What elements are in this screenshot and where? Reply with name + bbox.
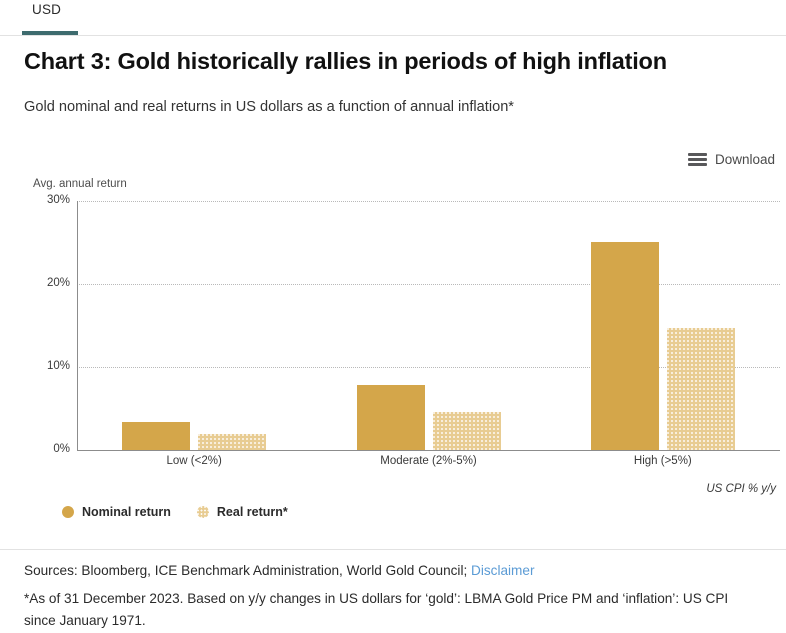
bar-nominal[interactable] — [122, 422, 190, 450]
y-axis-tick: 20% — [10, 277, 70, 289]
x-axis-line — [77, 450, 780, 451]
legend-item[interactable]: Nominal return — [62, 505, 171, 519]
x-axis-title: US CPI % y/y — [706, 483, 776, 495]
y-axis-line — [77, 201, 78, 451]
download-button[interactable]: Download — [688, 152, 775, 167]
page-subtitle: Gold nominal and real returns in US doll… — [24, 99, 514, 115]
bar-real[interactable] — [198, 434, 266, 450]
footnote-text: *As of 31 December 2023. Based on y/y ch… — [24, 588, 744, 632]
legend-item-label: Real return* — [217, 505, 288, 519]
hamburger-icon — [688, 153, 707, 166]
header-divider — [0, 35, 786, 36]
bar-nominal[interactable] — [357, 385, 425, 450]
download-button-label: Download — [715, 152, 775, 167]
page-title: Chart 3: Gold historically rallies in pe… — [24, 48, 667, 75]
footer-divider — [0, 549, 786, 550]
y-axis-tick: 0% — [10, 443, 70, 455]
bar-real[interactable] — [667, 328, 735, 450]
gridline — [77, 201, 780, 202]
y-axis-tick: 30% — [10, 194, 70, 206]
tab-bar: USD — [0, 0, 786, 34]
bar-real[interactable] — [433, 412, 501, 450]
disclaimer-link[interactable]: Disclaimer — [471, 563, 534, 578]
plot-area — [77, 201, 780, 450]
y-axis-title: Avg. annual return — [33, 178, 127, 190]
legend-item[interactable]: Real return* — [197, 505, 288, 519]
sources-label: Sources: Bloomberg, ICE Benchmark Admini… — [24, 563, 471, 578]
legend-item-label: Nominal return — [82, 505, 171, 519]
sources-text: Sources: Bloomberg, ICE Benchmark Admini… — [24, 563, 534, 578]
x-axis-tick: High (>5%) — [573, 455, 753, 467]
legend-marker-icon — [197, 506, 209, 518]
tab-usd[interactable]: USD — [22, 2, 69, 17]
bar-nominal[interactable] — [591, 242, 659, 450]
gridline — [77, 284, 780, 285]
y-axis-tick: 10% — [10, 360, 70, 372]
x-axis-tick: Moderate (2%-5%) — [339, 455, 519, 467]
legend-marker-icon — [62, 506, 74, 518]
chart-legend: Nominal returnReal return* — [62, 505, 288, 519]
x-axis-tick: Low (<2%) — [104, 455, 284, 467]
